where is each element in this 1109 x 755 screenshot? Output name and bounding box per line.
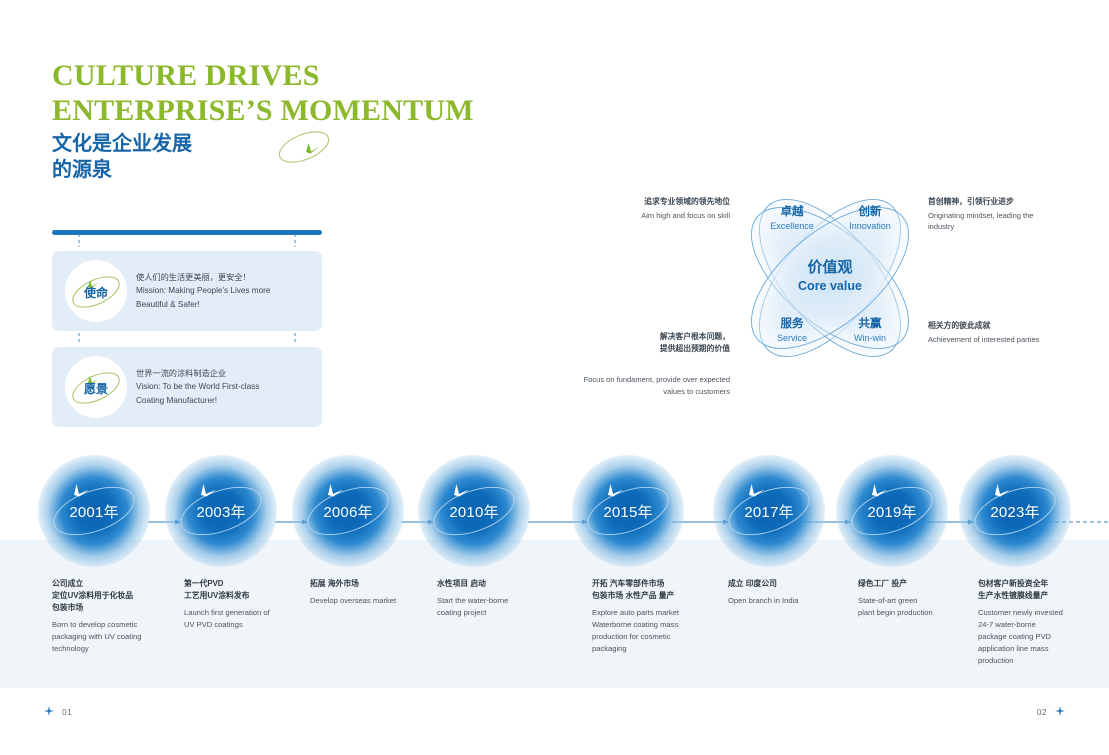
- orbit-star-icon: [274, 126, 334, 168]
- timeline-year-wrap: 2006年: [292, 455, 404, 567]
- page-number-left: 01: [62, 707, 72, 717]
- timeline-node-2010[interactable]: 2010年: [418, 455, 530, 567]
- petal-excellence-cn: 卓越: [757, 206, 827, 220]
- timeline-node-2003[interactable]: 2003年: [165, 455, 277, 567]
- petal-service[interactable]: 服务 Service: [757, 318, 827, 344]
- mission-card[interactable]: 使命 使人们的生活更美丽，更安全！ Mission: Making People…: [52, 251, 322, 331]
- timeline-node-2006[interactable]: 2006年: [292, 455, 404, 567]
- timeline-desc-en: Explore auto parts market Waterborne coa…: [592, 607, 707, 655]
- mission-line-cn: 使人们的生活更美丽，更安全！: [136, 271, 270, 284]
- note-winwin-cn: 相关方的彼此成就: [928, 320, 1073, 332]
- timeline-desc-en: Customer newly invested 24-7 water-borne…: [978, 607, 1066, 667]
- vision-icon-label: 愿景: [84, 382, 108, 396]
- timeline-desc-cn: 包材客户新投资全年 生产水性镀膜线量产: [978, 578, 1066, 602]
- timeline-year-wrap: 2001年: [38, 455, 150, 567]
- note-winwin: 相关方的彼此成就 Achievement of interested parti…: [928, 320, 1073, 345]
- timeline-desc-2019: 绿色工厂 投产 State-of-art green plant begin p…: [858, 578, 936, 619]
- footer-left: 01: [44, 703, 72, 721]
- vision-text: 世界一流的涂料制造企业 Vision: To be the World Firs…: [136, 367, 259, 407]
- vision-line-en-1: Vision: To be the World First-class: [136, 380, 259, 393]
- timeline-year-wrap: 2003年: [165, 455, 277, 567]
- sparkle-icon: [1055, 703, 1065, 721]
- mission-text: 使人们的生活更美丽，更安全！ Mission: Making People's …: [136, 271, 270, 311]
- timeline-desc-en: Launch first generation of UV PVD coatin…: [184, 607, 279, 631]
- timeline-year-wrap: 2015年: [572, 455, 684, 567]
- petal-service-cn: 服务: [757, 318, 827, 332]
- petal-innovation-en: Innovation: [835, 221, 905, 232]
- timeline-desc-en: Develop overseas market: [310, 595, 405, 607]
- timeline-year-label: 2015年: [603, 501, 652, 522]
- company-timeline: 2001年 2003年 2006年: [0, 455, 1109, 575]
- timeline-year-label: 2019年: [867, 501, 916, 522]
- timeline-year-label: 2010年: [449, 501, 498, 522]
- note-innovation-cn: 首创精神，引领行业进步: [928, 196, 1058, 208]
- page-number-right: 02: [1037, 707, 1047, 717]
- timeline-node-2023[interactable]: 2023年: [959, 455, 1071, 567]
- timeline-desc-cn: 绿色工厂 投产: [858, 578, 936, 590]
- core-value-center-cn: 价值观: [735, 256, 925, 277]
- vision-card[interactable]: 愿景 世界一流的涂料制造企业 Vision: To be the World F…: [52, 347, 322, 427]
- core-value-center: 价值观 Core value: [735, 256, 925, 293]
- petal-service-en: Service: [757, 333, 827, 344]
- timeline-node-2001[interactable]: 2001年: [38, 455, 150, 567]
- mission-line-en-1: Mission: Making People's Lives more: [136, 284, 270, 297]
- petal-innovation[interactable]: 创新 Innovation: [835, 206, 905, 232]
- page-header: CULTURE DRIVES ENTERPRISE’S MOMENTUM 文化是…: [52, 58, 474, 183]
- note-excellence-cn: 追求专业领域的领先地位: [575, 196, 730, 208]
- timeline-year-label: 2017年: [744, 501, 793, 522]
- timeline-desc-cn: 开拓 汽车零部件市场 包装市场 水性产品 量产: [592, 578, 707, 602]
- petal-excellence-en: Excellence: [757, 221, 827, 232]
- timeline-desc-cn: 拓展 海外市场: [310, 578, 405, 590]
- timeline-desc-cn: 公司成立 定位UV涂料用于化妆品 包装市场: [52, 578, 162, 614]
- note-service: 解决客户根本问题， 提供超出预期的价值 Focus on fundament, …: [560, 313, 730, 416]
- timeline-desc-en: Start the water-borne coating project: [437, 595, 517, 619]
- note-innovation-en: Originating mindset, leading the industr…: [928, 210, 1058, 233]
- timeline-year-wrap: 2023年: [959, 455, 1071, 567]
- core-value-center-en: Core value: [735, 279, 925, 293]
- timeline-desc-en: Open branch in India: [728, 595, 838, 607]
- timeline-desc-2023: 包材客户新投资全年 生产水性镀膜线量产 Customer newly inves…: [978, 578, 1066, 667]
- note-innovation: 首创精神，引领行业进步 Originating mindset, leading…: [928, 196, 1058, 233]
- timeline-desc-2003: 第一代PVD 工艺用UV涂料发布 Launch first generation…: [184, 578, 279, 631]
- timeline-year-label: 2001年: [69, 501, 118, 522]
- timeline-desc-2017: 成立 印度公司 Open branch in India: [728, 578, 838, 607]
- note-winwin-en: Achievement of interested parties: [928, 334, 1073, 346]
- timeline-node-2019[interactable]: 2019年: [836, 455, 948, 567]
- note-service-en: Focus on fundament, provide over expecte…: [560, 374, 730, 397]
- timeline-desc-2015: 开拓 汽车零部件市场 包装市场 水性产品 量产 Explore auto par…: [592, 578, 707, 655]
- timeline-year-wrap: 2019年: [836, 455, 948, 567]
- timeline-node-2017[interactable]: 2017年: [713, 455, 825, 567]
- page-title-chinese: 文化是企业发展 的源泉: [52, 132, 474, 183]
- vision-line-en-2: Coating Manufacturer!: [136, 394, 259, 407]
- petal-excellence[interactable]: 卓越 Excellence: [757, 206, 827, 232]
- timeline-desc-en: Born to develop cosmetic packaging with …: [52, 619, 162, 655]
- timeline-desc-cn: 成立 印度公司: [728, 578, 838, 590]
- note-excellence: 追求专业领域的领先地位 Aim high and focus on skill: [575, 196, 730, 221]
- page-root: CULTURE DRIVES ENTERPRISE’S MOMENTUM 文化是…: [0, 0, 1109, 755]
- footer-right: 02: [1037, 703, 1065, 721]
- sparkle-icon: [44, 703, 54, 721]
- page-title-english: CULTURE DRIVES ENTERPRISE’S MOMENTUM: [52, 58, 474, 128]
- vision-line-cn: 世界一流的涂料制造企业: [136, 367, 259, 380]
- timeline-year-wrap: 2010年: [418, 455, 530, 567]
- mission-icon-label: 使命: [83, 285, 109, 300]
- mission-vision-divider-bar: [52, 230, 322, 235]
- petal-innovation-cn: 创新: [835, 206, 905, 220]
- timeline-desc-2006: 拓展 海外市场 Develop overseas market: [310, 578, 405, 607]
- mission-line-en-2: Beautiful & Safer!: [136, 298, 270, 311]
- petal-winwin-cn: 共赢: [835, 318, 905, 332]
- mission-orbit-icon: 使命: [64, 259, 128, 323]
- note-excellence-en: Aim high and focus on skill: [575, 210, 730, 222]
- timeline-desc-en: State-of-art green plant begin productio…: [858, 595, 936, 619]
- vision-orbit-icon: 愿景: [64, 355, 128, 419]
- timeline-year-label: 2006年: [323, 501, 372, 522]
- timeline-year-label: 2003年: [196, 501, 245, 522]
- timeline-year-wrap: 2017年: [713, 455, 825, 567]
- petal-winwin[interactable]: 共赢 Win-win: [835, 318, 905, 344]
- timeline-desc-cn: 第一代PVD 工艺用UV涂料发布: [184, 578, 279, 602]
- timeline-desc-2001: 公司成立 定位UV涂料用于化妆品 包装市场 Born to develop co…: [52, 578, 162, 655]
- timeline-year-label: 2023年: [990, 501, 1039, 522]
- timeline-node-2015[interactable]: 2015年: [572, 455, 684, 567]
- note-service-cn: 解决客户根本问题， 提供超出预期的价值: [560, 331, 730, 354]
- mission-vision-panel: 使命 使人们的生活更美丽，更安全！ Mission: Making People…: [52, 230, 322, 427]
- core-value-diagram: 卓越 Excellence 创新 Innovation 服务 Service 共…: [735, 178, 925, 378]
- timeline-desc-2010: 水性项目 启动 Start the water-borne coating pr…: [437, 578, 517, 619]
- petal-winwin-en: Win-win: [835, 333, 905, 344]
- timeline-desc-cn: 水性项目 启动: [437, 578, 517, 590]
